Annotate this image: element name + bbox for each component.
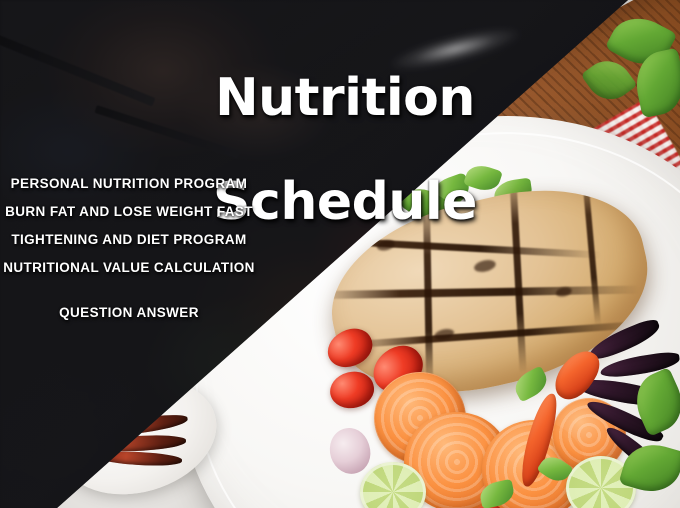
service-item-nutritional-value-calculation: NUTRITIONAL VALUE CALCULATION: [0, 254, 258, 282]
service-item-question-answer: QUESTION ANSWER: [0, 299, 258, 327]
title-line-1: Nutrition: [60, 72, 630, 124]
service-item-burn-fat-and-lose-weight-fast: BURN FAT AND LOSE WEIGHT FAST: [0, 198, 258, 226]
nutrition-schedule-poster: Nutrition Schedule PERSONAL NUTRITION PR…: [0, 0, 680, 508]
service-item-personal-nutrition-program: PERSONAL NUTRITION PROGRAM: [0, 170, 258, 198]
service-item-tightening-and-diet-program: TIGHTENING AND DIET PROGRAM: [0, 226, 258, 254]
service-list: PERSONAL NUTRITION PROGRAM BURN FAT AND …: [0, 170, 258, 327]
